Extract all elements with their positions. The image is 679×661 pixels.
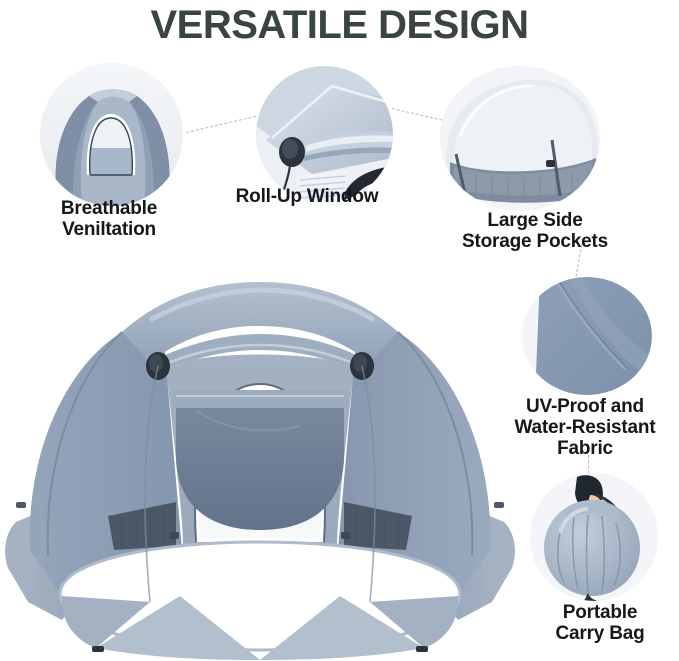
storage-pocket-illustration bbox=[440, 66, 600, 211]
feature-label-roll-up-window: Roll-Up Window bbox=[212, 186, 402, 207]
fabric-closeup-illustration bbox=[522, 277, 652, 395]
ventilation-illustration bbox=[40, 63, 183, 206]
feature-label-carry-bag: Portable Carry Bag bbox=[520, 602, 679, 644]
infographic-canvas: VERSATILE DESIGN bbox=[0, 0, 679, 661]
feature-bubble-fabric bbox=[522, 277, 652, 395]
feature-bubble-breathable-ventilation bbox=[40, 63, 183, 206]
feature-label-breathable-ventilation: Breathable Veniltation bbox=[24, 198, 194, 240]
product-image-pop-up-tent bbox=[0, 250, 520, 661]
roll-up-window-illustration bbox=[256, 66, 393, 203]
feature-bubble-roll-up-window bbox=[256, 66, 393, 203]
tent-illustration bbox=[0, 250, 520, 661]
feature-bubble-storage-pockets bbox=[440, 66, 600, 211]
feature-label-storage-pockets: Large Side Storage Pockets bbox=[435, 210, 635, 252]
feature-bubble-carry-bag bbox=[530, 473, 658, 601]
leader-line-ventilation-to-window bbox=[186, 116, 256, 133]
carry-bag-illustration bbox=[530, 473, 658, 601]
page-title: VERSATILE DESIGN bbox=[0, 2, 679, 48]
